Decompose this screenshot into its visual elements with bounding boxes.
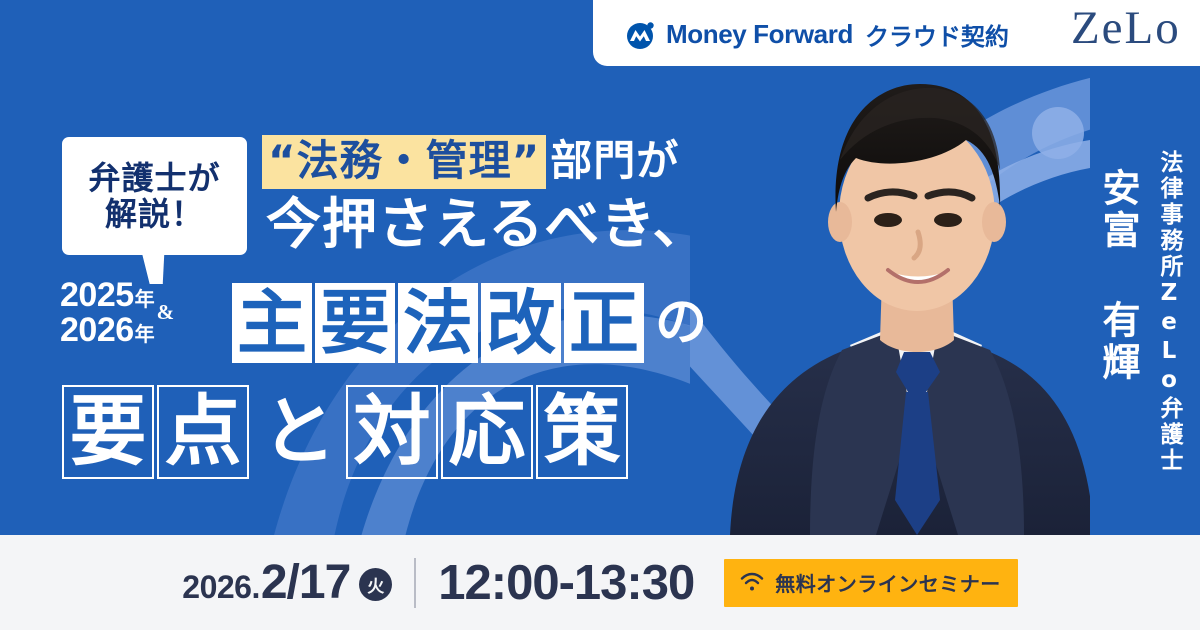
bubble-line-1: 弁護士が — [88, 161, 220, 197]
boxed-char: 策 — [536, 385, 628, 479]
event-date-year: 2026. — [182, 569, 260, 606]
speaker-photo-svg — [690, 0, 1090, 535]
boxed-char: 主 — [232, 283, 312, 363]
money-forward-wordmark: Money Forward — [666, 19, 853, 50]
headline-main-suffix: の — [655, 297, 707, 349]
headline-main-boxed-row: 主 要 法 改 正 の — [232, 283, 707, 363]
year-2026-unit: 年 — [135, 324, 155, 344]
year-2025: 2025 — [60, 278, 134, 313]
speaker-credit: 安富 有輝 法律事務所ZeLo弁護士 — [1091, 150, 1186, 474]
free-badge-label: 無料オンラインセミナー — [775, 568, 1001, 597]
wifi-icon — [739, 572, 765, 592]
boxed-char: 点 — [157, 385, 249, 479]
money-forward-service-name: クラウド契約 — [865, 17, 1009, 52]
headline-block: “法務・管理” 部門が 今押さえるべき、 2025 年 2026 年 & 主 要… — [0, 0, 720, 535]
headline-highlight: “法務・管理” — [262, 135, 546, 189]
boxed-char: 対 — [346, 385, 438, 479]
event-details-bar: 2026. 2/17 火 12:00-13:30 無料オンラインセミナー — [0, 535, 1200, 630]
boxed-char: 正 — [564, 283, 644, 363]
headline-sub-boxed-row: 要 点 と 対 応 策 — [62, 385, 631, 479]
boxed-char: 法 — [398, 283, 478, 363]
boxed-char: 改 — [481, 283, 561, 363]
money-forward-logo-icon — [626, 20, 656, 50]
headline-line-1: “法務・管理” 部門が — [262, 135, 679, 189]
speaker-photo — [690, 0, 1090, 535]
detail-divider — [414, 558, 416, 608]
year-2025-unit: 年 — [135, 289, 155, 309]
header-logo-panel: Money Forward クラウド契約 ZeLo — [593, 0, 1200, 66]
event-time: 12:00-13:30 — [438, 555, 694, 611]
headline-line-2: 今押さえるべき、 — [266, 196, 709, 254]
year-2026: 2026 — [60, 313, 134, 348]
webinar-banner: Money Forward クラウド契約 ZeLo 弁護士が 解説！ “法務・管… — [0, 0, 1200, 630]
zelo-logo: ZeLo — [1071, 5, 1181, 52]
headline-sub-connector: と — [262, 395, 336, 469]
headline-years: 2025 年 2026 年 & — [60, 278, 174, 347]
boxed-char: 要 — [62, 385, 154, 479]
boxed-char: 応 — [441, 385, 533, 479]
boxed-char: 要 — [315, 283, 395, 363]
bubble-line-2: 解説！ — [105, 197, 204, 233]
free-online-seminar-badge: 無料オンラインセミナー — [724, 559, 1018, 607]
year-row-1: 2025 年 — [60, 278, 155, 313]
speaker-affiliation: 法律事務所ZeLo弁護士 — [1152, 150, 1186, 474]
years-ampersand: & — [157, 300, 175, 325]
lawyer-explains-bubble: 弁護士が 解説！ — [62, 137, 247, 255]
year-row-2: 2026 年 — [60, 313, 155, 348]
event-date-monthday: 2/17 — [261, 555, 350, 610]
headline-line1-suffix: 部門が — [550, 139, 679, 183]
event-date: 2026. 2/17 火 — [182, 555, 392, 610]
day-of-week-badge: 火 — [359, 568, 392, 601]
speaker-name: 安富 有輝 — [1091, 168, 1146, 384]
money-forward-logo: Money Forward クラウド契約 — [626, 17, 1009, 52]
